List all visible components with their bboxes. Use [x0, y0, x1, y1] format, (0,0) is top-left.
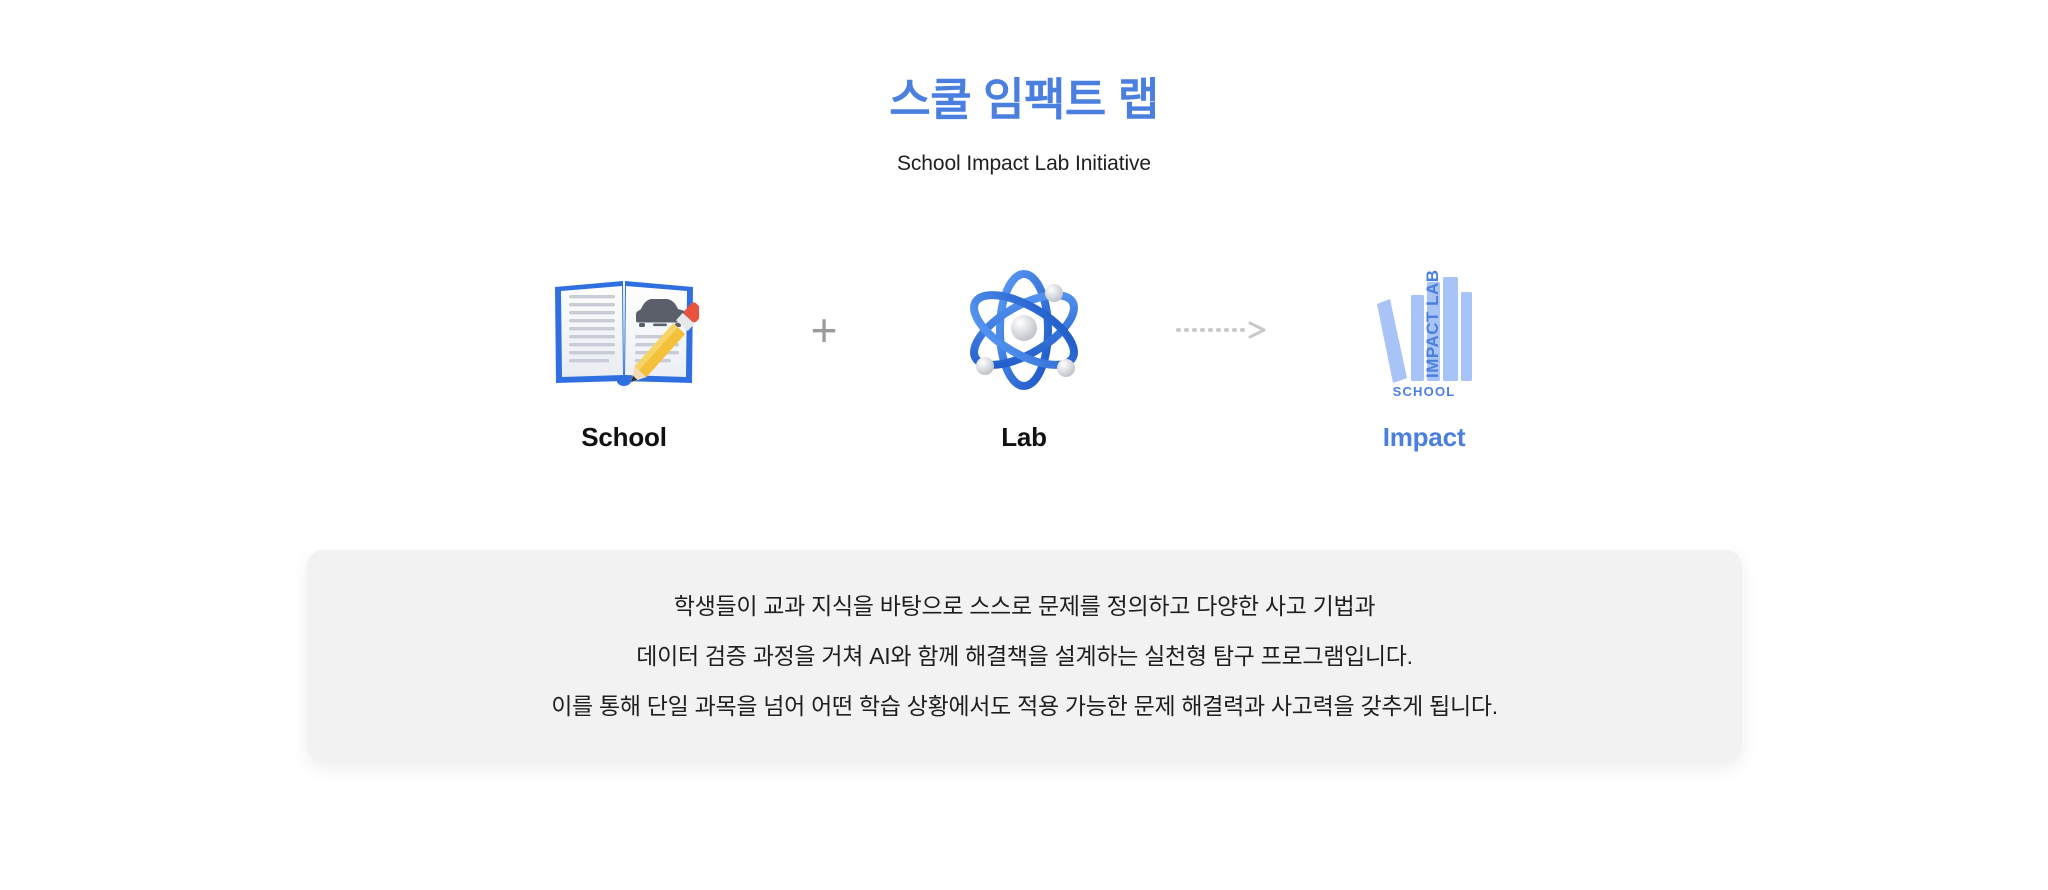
page-title: 스쿨 임팩트 랩	[0, 74, 2048, 126]
plus-connector: +	[749, 260, 899, 400]
dotted-arrow-connector	[1149, 260, 1299, 400]
flow-item-school: School	[499, 260, 749, 453]
dotted-arrow-icon	[1176, 320, 1272, 340]
description-line-2: 데이터 검증 과정을 거쳐 AI와 함께 해결책을 설계하는 실천형 탐구 프로…	[636, 631, 1413, 681]
svg-text:IMPACT LAB: IMPACT LAB	[1423, 269, 1442, 378]
page-header: 스쿨 임팩트 랩 School Impact Lab Initiative	[0, 74, 2048, 176]
open-notebook-icon	[539, 260, 709, 400]
description-card: 학생들이 교과 지식을 바탕으로 스스로 문제를 정의하고 다양한 사고 기법과…	[307, 550, 1742, 762]
flow-item-impact: IMPACT LAB SCHOOL Impact	[1299, 260, 1549, 453]
description-line-1: 학생들이 교과 지식을 바탕으로 스스로 문제를 정의하고 다양한 사고 기법과	[674, 581, 1375, 631]
concept-flow-row: School +	[0, 260, 2048, 453]
page-root: 스쿨 임팩트 랩 School Impact Lab Initiative	[0, 0, 2048, 890]
impact-lab-logo-icon: IMPACT LAB SCHOOL	[1339, 260, 1509, 400]
plus-icon: +	[811, 307, 838, 353]
atom-icon	[939, 260, 1109, 400]
page-subtitle: School Impact Lab Initiative	[0, 152, 2048, 176]
svg-text:SCHOOL: SCHOOL	[1393, 384, 1456, 399]
flow-label-lab: Lab	[1001, 422, 1047, 453]
flow-label-school: School	[581, 422, 666, 453]
description-line-3: 이를 통해 단일 과목을 넘어 어떤 학습 상황에서도 적용 가능한 문제 해결…	[551, 681, 1498, 731]
flow-item-lab: Lab	[899, 260, 1149, 453]
flow-label-impact: Impact	[1383, 422, 1466, 453]
